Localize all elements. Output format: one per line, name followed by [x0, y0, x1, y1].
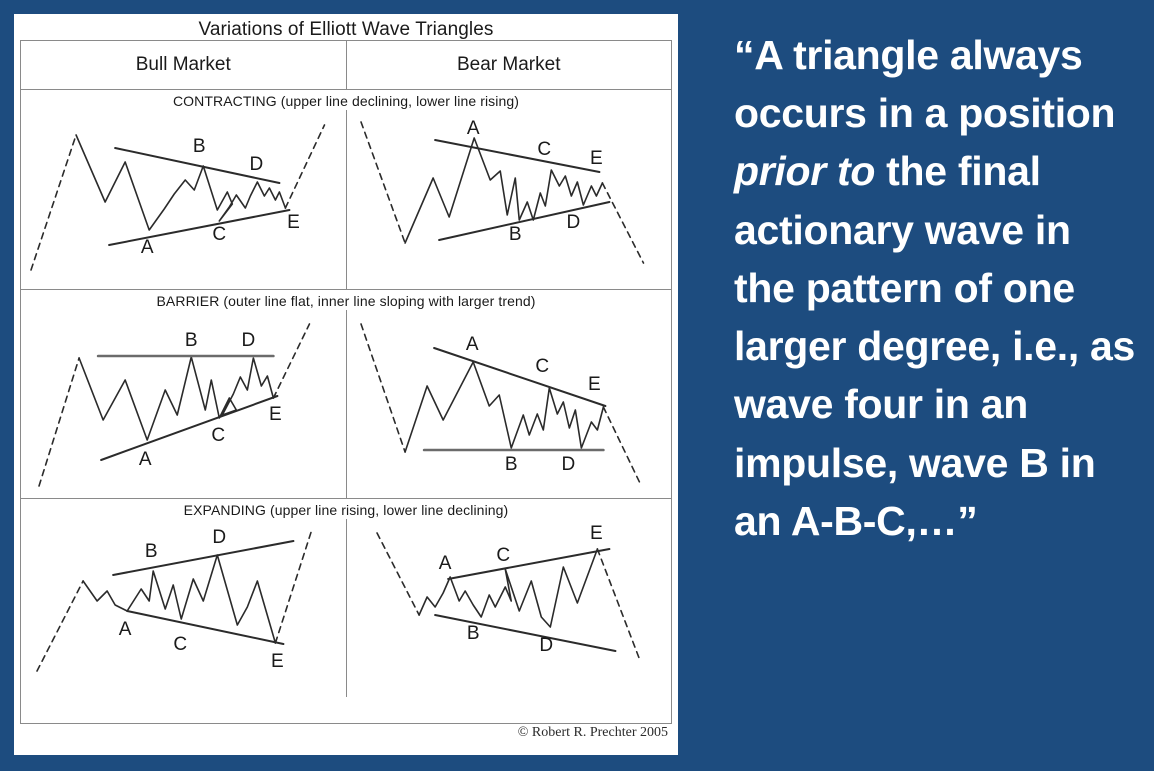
wave-label-c: C	[496, 545, 510, 566]
upper-trendline	[435, 140, 599, 172]
wave-label-d: D	[212, 527, 226, 548]
wave-label-b: B	[193, 136, 206, 157]
chart-title: Variations of Elliott Wave Triangles	[14, 14, 678, 41]
wave-label-d: D	[249, 154, 263, 175]
exit-trend-dashed	[285, 125, 324, 208]
lower-trendline	[435, 615, 615, 651]
wave-label-a: A	[119, 619, 132, 640]
diagram-barrier-bull-svg: B D A C E	[21, 310, 346, 498]
variation-label-expanding: EXPANDING (upper line rising, lower line…	[21, 499, 671, 519]
exit-trend-dashed	[275, 531, 311, 643]
diagram-contracting-bull: B D A C E	[21, 110, 347, 289]
diagram-contracting-bear: A C E B D	[347, 110, 672, 289]
wave-label-d: D	[539, 635, 553, 656]
quote-close-quote-mark: ”	[957, 498, 977, 544]
diagram-expanding-bull-svg: B D A C E	[21, 519, 346, 697]
exit-trend-dashed	[603, 407, 639, 482]
wave-label-b: B	[508, 224, 521, 245]
upper-trendline	[113, 541, 293, 575]
lower-trendline	[101, 396, 277, 460]
variation-block-expanding: EXPANDING (upper line rising, lower line…	[21, 499, 671, 697]
variation-label-barrier: BARRIER (outer line flat, inner line slo…	[21, 290, 671, 310]
diagram-barrier-bull: B D A C E	[21, 310, 347, 498]
wave-label-e: E	[588, 374, 601, 395]
column-header-bear-market: Bear Market	[347, 41, 672, 89]
wave-label-b: B	[466, 623, 479, 644]
wave-polyline	[83, 555, 275, 643]
column-header-bear-market-label: Bear Market	[457, 54, 560, 76]
market-header-row: Bull Market Bear Market	[21, 41, 671, 90]
wave-polyline	[76, 135, 285, 230]
variation-row-contracting: B D A C E A C	[21, 110, 671, 289]
variation-block-contracting: CONTRACTING (upper line declining, lower…	[21, 90, 671, 290]
wave-label-c: C	[212, 224, 226, 245]
wave-label-e: E	[269, 404, 282, 425]
column-header-bull-market-label: Bull Market	[136, 54, 231, 76]
wave-label-c: C	[173, 634, 187, 655]
wave-label-b: B	[185, 330, 198, 351]
wave-label-d: D	[566, 212, 580, 233]
lower-trendline	[109, 210, 289, 245]
wave-label-a: A	[141, 237, 154, 258]
quote-open-quote-mark: “	[734, 32, 754, 78]
variation-label-contracting: CONTRACTING (upper line declining, lower…	[21, 90, 671, 110]
wave-label-b: B	[504, 454, 517, 475]
wave-label-c: C	[535, 356, 549, 377]
wave-polyline	[405, 362, 603, 452]
wave-label-a: A	[438, 553, 451, 574]
diagram-barrier-bear: A C E B D	[347, 310, 672, 498]
quote-text-part-1: A triangle always occurs in a position	[734, 32, 1115, 136]
exit-trend-dashed	[273, 324, 309, 398]
elliott-wave-chart-panel: Variations of Elliott Wave Triangles Bul…	[14, 14, 678, 755]
entry-trend-dashed	[377, 533, 419, 615]
variation-row-expanding: B D A C E A C	[21, 519, 671, 697]
exit-trend-dashed	[602, 183, 643, 263]
entry-trend-dashed	[31, 135, 76, 270]
diagram-contracting-bull-svg: B D A C E	[21, 110, 346, 289]
entry-trend-dashed	[361, 122, 405, 243]
wave-label-c: C	[537, 139, 551, 160]
wave-label-a: A	[139, 449, 152, 470]
wave-label-b: B	[145, 541, 158, 562]
upper-trendline	[434, 348, 605, 406]
exit-trend-dashed	[597, 549, 639, 659]
quote-italic-emphasis: prior to	[734, 148, 875, 194]
wave-label-e: E	[590, 148, 603, 169]
diagram-contracting-bear-svg: A C E B D	[347, 110, 672, 289]
variation-row-barrier: B D A C E A C	[21, 310, 671, 498]
diagram-barrier-bear-svg: A C E B D	[347, 310, 672, 498]
quote-text-part-2: the final actionary wave in the pattern …	[734, 148, 1135, 543]
diagram-expanding-bear-svg: A C E B D	[347, 519, 672, 697]
wave-label-a: A	[466, 118, 479, 139]
variation-block-barrier: BARRIER (outer line flat, inner line slo…	[21, 290, 671, 499]
wave-label-d: D	[241, 330, 255, 351]
upper-trendline	[448, 549, 609, 579]
wave-label-e: E	[287, 212, 300, 233]
wave-label-e: E	[590, 523, 603, 544]
wave-label-c: C	[211, 425, 225, 446]
wave-polyline	[79, 357, 273, 440]
lower-trendline	[127, 611, 283, 644]
wave-label-e: E	[271, 651, 284, 672]
entry-trend-dashed	[39, 358, 79, 486]
copyright-notice: © Robert R. Prechter 2005	[518, 725, 668, 741]
wave-label-a: A	[465, 334, 478, 355]
quote-panel: “A triangle always occurs in a position …	[734, 26, 1138, 550]
entry-trend-dashed	[361, 324, 405, 452]
wave-label-d: D	[561, 454, 575, 475]
diagram-expanding-bull: B D A C E	[21, 519, 347, 697]
entry-trend-dashed	[37, 581, 83, 671]
column-header-bull-market: Bull Market	[21, 41, 347, 89]
diagram-expanding-bear: A C E B D	[347, 519, 672, 697]
wave-variations-table: Bull Market Bear Market CONTRACTING (upp…	[20, 40, 672, 724]
